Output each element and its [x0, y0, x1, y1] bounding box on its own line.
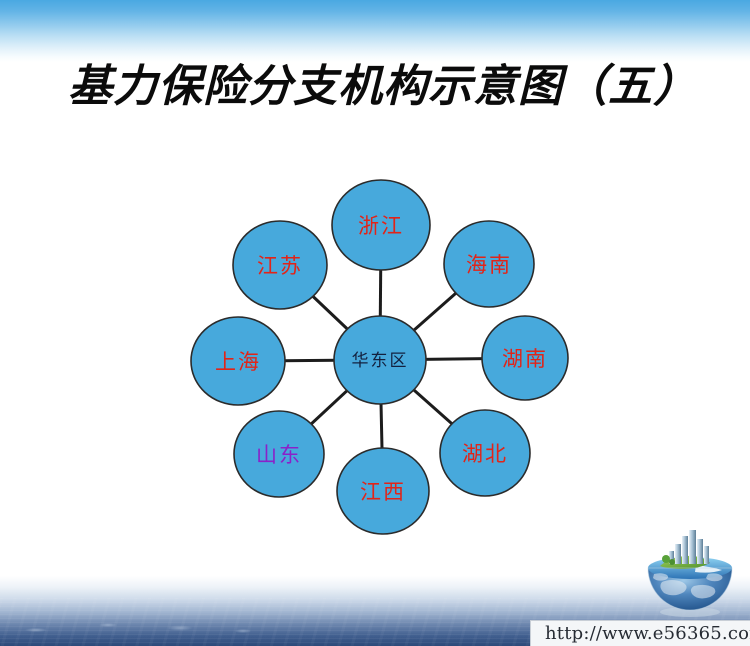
diagram-node-江西[interactable]: 江西 — [337, 448, 429, 534]
diagram-node-浙江[interactable]: 浙江 — [332, 180, 430, 270]
diagram-node-海南[interactable]: 海南 — [444, 221, 534, 307]
center-node-group: 华东区 — [334, 316, 426, 404]
globe-city-buildings — [669, 530, 709, 564]
node-label: 山东 — [256, 443, 302, 467]
node-label: 湖南 — [502, 347, 548, 371]
globe-city-logo — [638, 524, 742, 620]
node-label: 上海 — [215, 350, 261, 374]
slide-canvas: 基力保险分支机构示意图（五） 浙江海南湖南湖北江西山东上海江苏 华东区 — [0, 0, 750, 646]
website-url-plate: http://www.e56365.com — [530, 620, 750, 646]
website-url-text: http://www.e56365.com — [545, 623, 750, 644]
node-label: 浙江 — [358, 214, 404, 238]
diagram-node-湖南[interactable]: 湖南 — [482, 316, 568, 400]
diagram-node-山东[interactable]: 山东 — [234, 411, 324, 497]
connector-line-江西 — [381, 403, 382, 449]
center-node-label: 华东区 — [352, 351, 409, 371]
node-label: 江苏 — [257, 254, 303, 278]
diagram-node-上海[interactable]: 上海 — [191, 317, 285, 405]
connector-line-湖南 — [423, 359, 485, 360]
node-label: 湖北 — [462, 442, 508, 466]
connector-line-海南 — [412, 292, 457, 332]
diagram-node-湖北[interactable]: 湖北 — [440, 410, 530, 496]
connector-line-山东 — [310, 389, 349, 425]
diagram-node-center[interactable]: 华东区 — [334, 316, 426, 404]
connector-line-江苏 — [312, 295, 349, 330]
connector-line-湖北 — [412, 389, 453, 426]
diagram-node-江苏[interactable]: 江苏 — [233, 221, 327, 309]
node-label: 江西 — [360, 480, 406, 504]
node-label: 海南 — [466, 253, 512, 277]
